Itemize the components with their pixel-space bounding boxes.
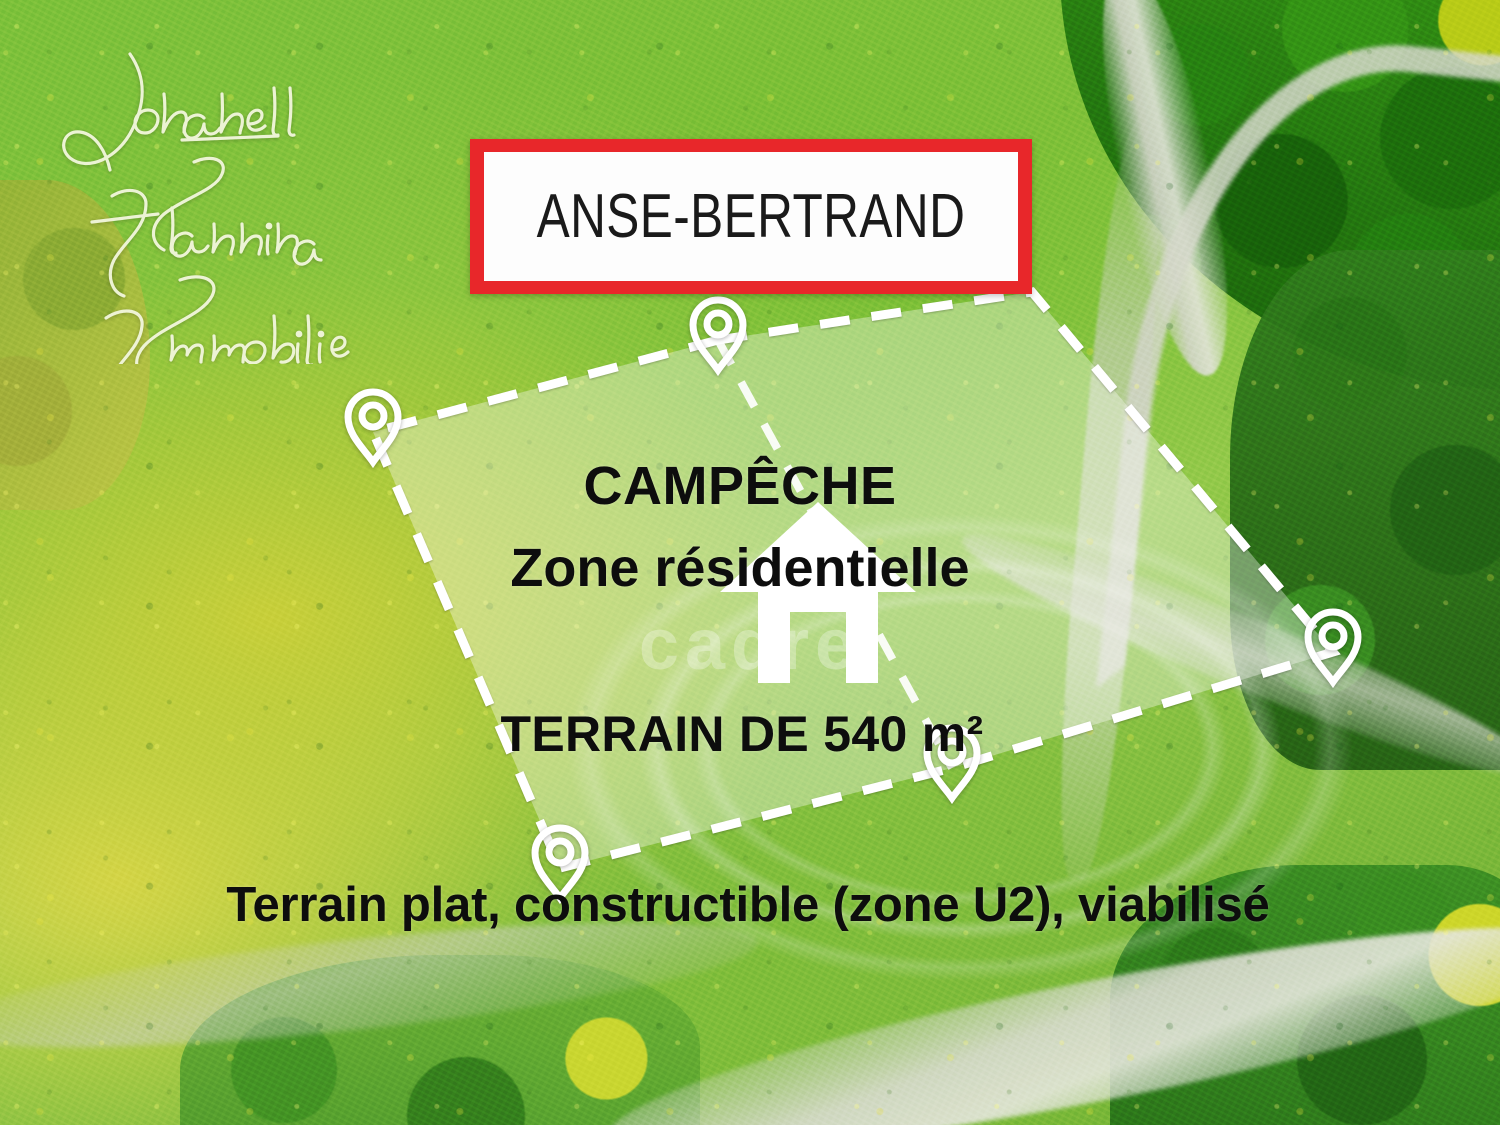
caption-label: Terrain plat, constructible (zone U2), v…: [0, 877, 1500, 933]
locality-label: CAMPÊCHE: [0, 455, 1500, 517]
locality-text: CAMPÊCHE: [583, 455, 896, 517]
town-entry-sign: ANSE-BERTRAND: [470, 139, 1032, 294]
area-label: TERRAIN DE 540 m²: [0, 705, 1500, 763]
zoning-text: Zone résidentielle: [510, 537, 969, 599]
caption-text: Terrain plat, constructible (zone U2), v…: [226, 877, 1269, 933]
town-name-label: ANSE-BERTRAND: [537, 181, 966, 252]
area-text: TERRAIN DE 540 m²: [501, 705, 984, 763]
listing-image: cadre ANSE-BERTRAND CAMPÊCHE Zone réside…: [0, 0, 1500, 1125]
sign-inner-panel: ANSE-BERTRAND: [484, 152, 1018, 281]
zoning-label: Zone résidentielle: [0, 537, 1500, 599]
